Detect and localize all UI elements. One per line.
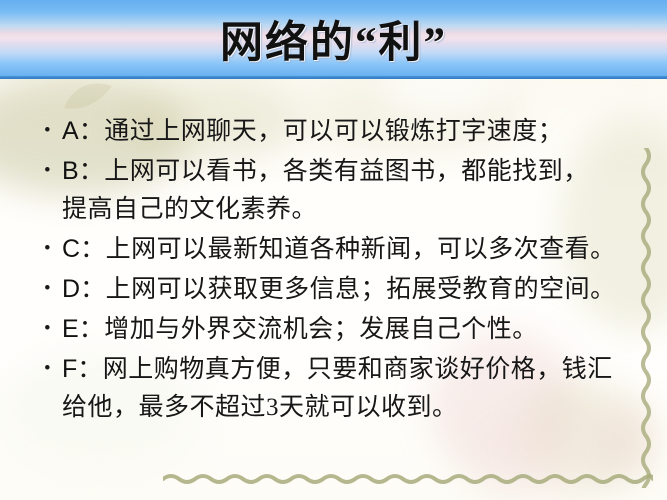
bullet-sep-b: ： [79, 158, 105, 185]
bullet-item-f: • F：网上购物真方便，只要和商家谈好价格，钱汇 给他，最多不超过3天就可以收到… [40, 350, 640, 427]
bullet-text-f: F：网上购物真方便，只要和商家谈好价格，钱汇 给他，最多不超过3天就可以收到。 [62, 350, 640, 427]
bullet-list: • A：通过上网聊天，可以可以锻炼打字速度； • B：上网可以看书，各类有益图书… [40, 112, 640, 428]
bullet-item-c: • C：上网可以最新知道各种新闻，可以多次查看。 [40, 230, 640, 269]
bullet-item-d: • D：上网可以获取更多信息；拓展受教育的空间。 [40, 270, 640, 309]
bullet-line-c-1: 上网可以最新知道各种新闻，可以多次查看。 [106, 236, 616, 263]
bullet-tag-c: C [62, 235, 80, 263]
bullet-tag-e: E [62, 315, 79, 343]
bullet-text-c: C：上网可以最新知道各种新闻，可以多次查看。 [62, 230, 640, 269]
bullet-dot-icon: • [40, 310, 62, 348]
bullet-line-b-1: 上网可以看书，各类有益图书，都能找到， [104, 158, 589, 185]
bullet-tag-f: F [62, 355, 77, 383]
bullet-dot-icon: • [40, 350, 62, 388]
bullet-text-a: A：通过上网聊天，可以可以锻炼打字速度； [62, 112, 640, 151]
bullet-text-b: B：上网可以看书，各类有益图书，都能找到， 提高自己的文化素养。 [62, 152, 640, 229]
bullet-item-b: • B：上网可以看书，各类有益图书，都能找到， 提高自己的文化素养。 [40, 152, 640, 229]
bullet-text-d: D：上网可以获取更多信息；拓展受教育的空间。 [62, 270, 640, 309]
bullet-line-f-1: 网上购物真方便，只要和商家谈好价格，钱汇 [103, 356, 613, 383]
bullet-line-f-2: 给他，最多不超过3天就可以收到。 [62, 394, 458, 421]
bullet-sep-c: ： [80, 236, 106, 263]
bullet-dot-icon: • [40, 112, 62, 150]
bullet-sep-e: ： [79, 316, 105, 343]
banner-underline [0, 76, 667, 79]
bullet-line-a-1: 通过上网聊天，可以可以锻炼打字速度； [104, 118, 563, 145]
bullet-tag-a: A [62, 117, 79, 145]
bullet-line-d-1: 上网可以获取更多信息；拓展受教育的空间。 [106, 276, 616, 303]
bullet-line-b-2: 提高自己的文化素养。 [62, 196, 317, 223]
bullet-line-e-1: 增加与外界交流机会；发展自己个性。 [104, 316, 538, 343]
bullet-text-e: E：增加与外界交流机会；发展自己个性。 [62, 310, 640, 349]
wavy-divider-line [163, 470, 653, 486]
bullet-dot-icon: • [40, 230, 62, 268]
bullet-tag-d: D [62, 275, 80, 303]
bullet-sep-d: ： [80, 276, 106, 303]
wavy-border-line [637, 148, 655, 488]
slide-canvas: 网络的“利” • A：通过上网聊天，可以可以锻炼打字速度； • B：上网可以看书… [0, 0, 667, 500]
bullet-sep-a: ： [79, 118, 105, 145]
bullet-sep-f: ： [77, 356, 103, 383]
bullet-item-a: • A：通过上网聊天，可以可以锻炼打字速度； [40, 112, 640, 151]
bullet-item-e: • E：增加与外界交流机会；发展自己个性。 [40, 310, 640, 349]
bullet-dot-icon: • [40, 270, 62, 308]
slide-title: 网络的“利” [0, 8, 667, 70]
bullet-dot-icon: • [40, 152, 62, 190]
bullet-tag-b: B [62, 157, 79, 185]
